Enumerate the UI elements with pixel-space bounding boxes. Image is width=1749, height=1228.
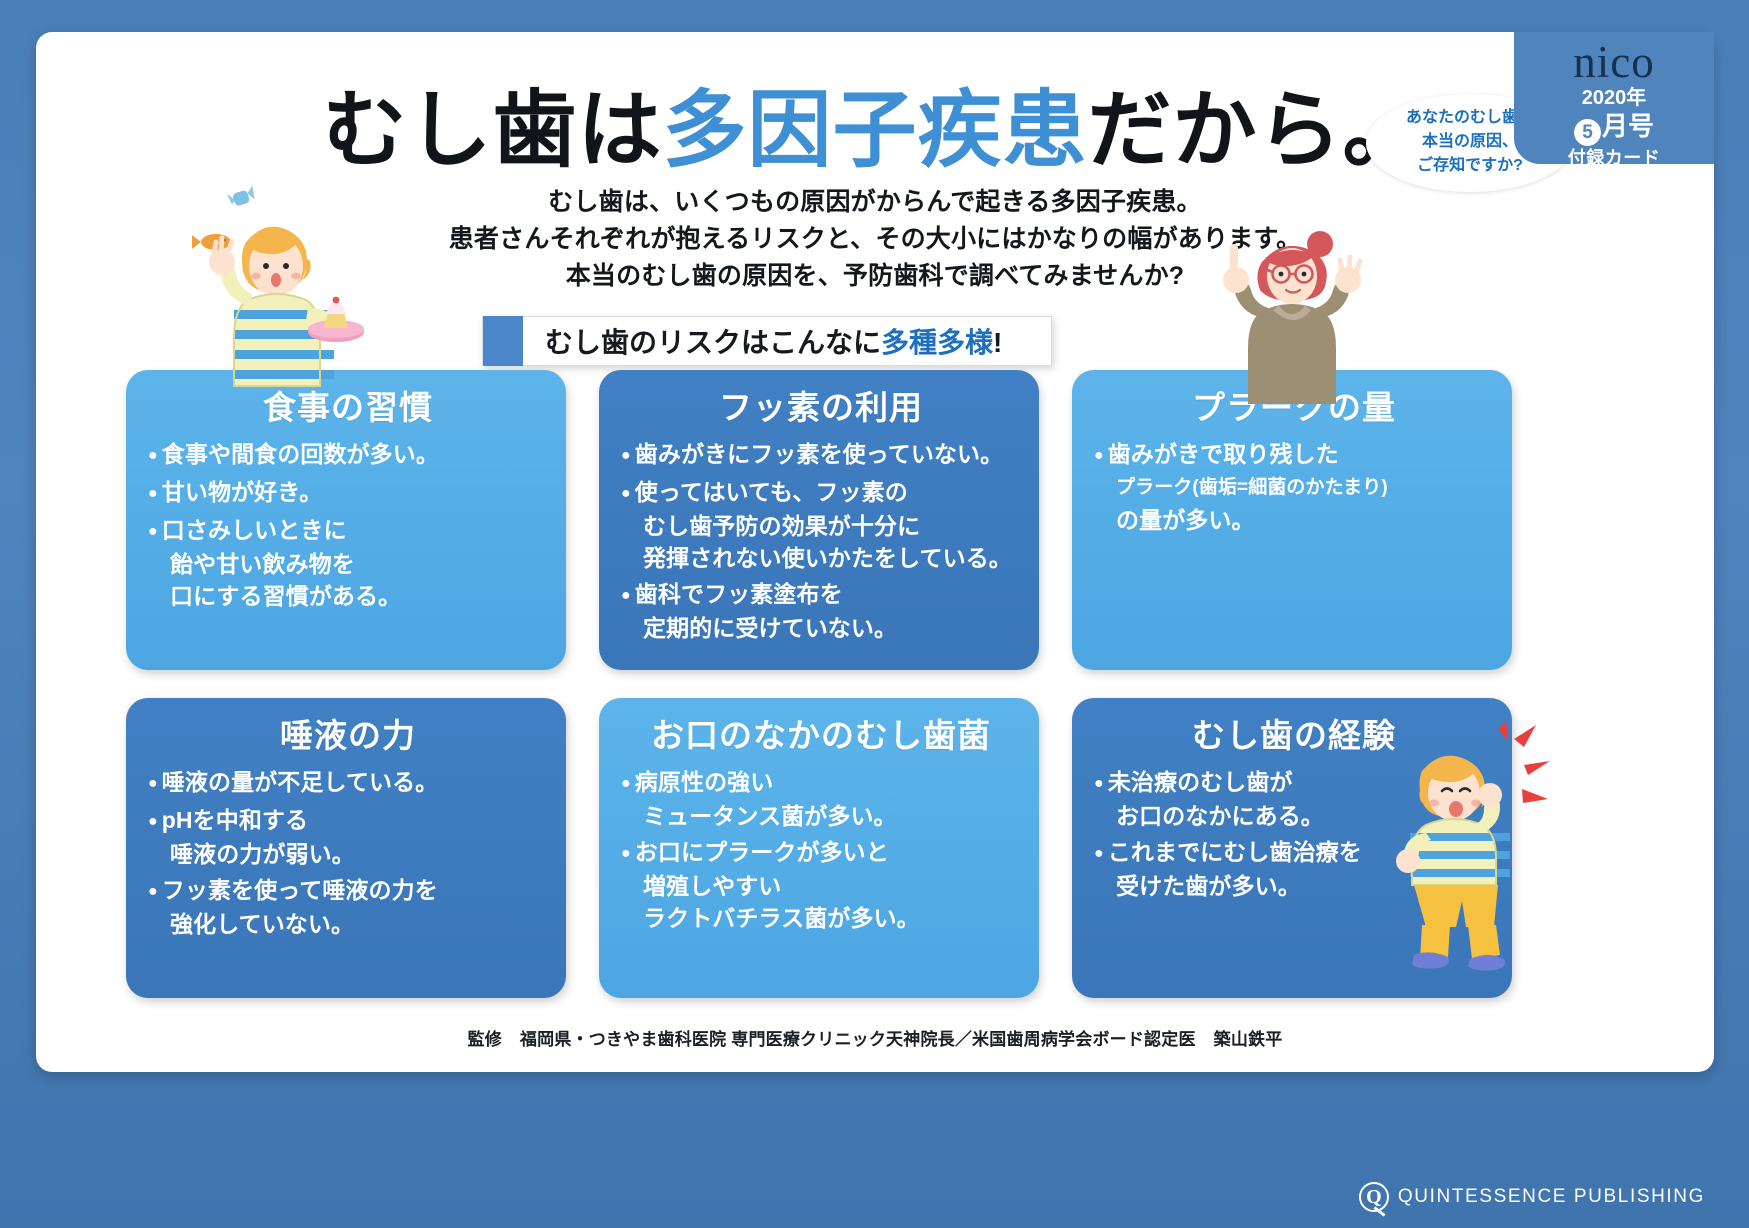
masthead-supplement: 付録カード	[1514, 146, 1714, 170]
poster-background: nico 2020年 5月号 付録カード むし歯は多因子疾患だから。 むし歯は、…	[0, 0, 1749, 1228]
publisher-logo: Q QUINTESSENCE PUBLISHING	[1359, 1182, 1705, 1212]
risk-card-bullet-list: 歯みがきにフッ素を使っていない。使ってはいても、フッ素のむし歯予防の効果が十分に…	[621, 438, 1021, 644]
magazine-brand: nico	[1514, 38, 1714, 86]
risk-bullet-line: 唾液の量が不足している。	[162, 769, 439, 795]
risk-banner: むし歯のリスクはこんなに多種多様!	[482, 316, 1052, 366]
risk-bullet-line: pHを中和する	[162, 807, 308, 833]
risk-bullet-line: 口さみしいときに	[162, 517, 347, 543]
masthead-month-number: 5	[1574, 119, 1601, 146]
risk-card-bullet-list: 病原性の強いミュータンス菌が多い。お口にプラークが多いと増殖しやすいラクトバチラ…	[621, 766, 1021, 934]
risk-bullet-item: 唾液の量が不足している。	[148, 766, 548, 800]
risk-card: 唾液の力唾液の量が不足している。pHを中和する唾液の力が弱い。フッ素を使って唾液…	[126, 698, 566, 998]
risk-bullet-line: ラクトバチラス菌が多い。	[642, 902, 1021, 934]
magazine-masthead: nico 2020年 5月号 付録カード	[1514, 32, 1714, 164]
supervisor-credit: 監修福岡県・つきやま歯科医院 専門医療クリニック天神院長／米国歯周病学会ボード認…	[36, 1025, 1714, 1050]
risk-bullet-line: 強化していない。	[169, 908, 548, 940]
risk-bullet-item: pHを中和する唾液の力が弱い。	[148, 804, 548, 870]
risk-card-title: お口のなかのむし歯菌	[621, 714, 1021, 758]
quintessence-q-icon: Q	[1359, 1182, 1389, 1212]
risk-bullet-line: 歯みがきで取り残した	[1108, 441, 1339, 467]
boy-with-toothache-illustration	[1364, 721, 1564, 976]
poster-sheet: nico 2020年 5月号 付録カード むし歯は多因子疾患だから。 むし歯は、…	[36, 32, 1714, 1072]
risk-bullet-line: 歯みがきにフッ素を使っていない。	[635, 441, 1003, 467]
masthead-month: 5月号	[1514, 110, 1714, 146]
risk-bullet-line: 使ってはいても、フッ素の	[635, 479, 908, 505]
credit-affiliation: 福岡県・つきやま歯科医院 専門医療クリニック天神院長／米国歯周病学会ボード認定医	[520, 1030, 1196, 1049]
speech-bubble-tail	[1531, 184, 1561, 215]
banner-text-emphasis: 多種多様	[881, 327, 993, 358]
headline-accent: 多因子疾患	[662, 83, 1087, 177]
risk-bullet-line: 発揮されない使いかたをしている。	[642, 542, 1021, 574]
credit-name: 築山鉄平	[1214, 1030, 1283, 1049]
banner-text-tail: !	[993, 327, 1002, 358]
risk-bullet-line: 増殖しやすい	[642, 870, 1021, 902]
risk-bullet-line: プラーク(歯垢=細菌のかたまり)	[1115, 472, 1494, 504]
risk-bullet-line: ミュータンス菌が多い。	[642, 800, 1021, 832]
risk-bullet-item: 歯科でフッ素塗布を定期的に受けていない。	[621, 578, 1021, 644]
risk-bullet-line: フッ素を使って唾液の力を	[162, 877, 438, 903]
risk-bullet-line: お口にプラークが多いと	[635, 839, 889, 865]
risk-bullet-line: むし歯予防の効果が十分に	[642, 510, 1021, 542]
risk-bullet-line: 病原性の強い	[635, 769, 774, 795]
risk-bullet-line: 口にする習慣がある。	[169, 580, 548, 612]
masthead-month-suffix: 月号	[1602, 111, 1654, 141]
credit-label: 監修	[468, 1030, 502, 1049]
risk-card: 食事の習慣食事や間食の回数が多い。甘い物が好き。口さみしいときに飴や甘い飲み物を…	[126, 370, 566, 670]
risk-bullet-line: 飴や甘い飲み物を	[169, 548, 548, 580]
risk-card-title: フッ素の利用	[621, 386, 1021, 430]
risk-bullet-line: の量が多い。	[1115, 504, 1494, 536]
risk-bullet-line: 唾液の力が弱い。	[169, 838, 548, 870]
risk-card-bullet-list: 食事や間食の回数が多い。甘い物が好き。口さみしいときに飴や甘い飲み物を口にする習…	[148, 438, 548, 612]
risk-bullet-item: お口にプラークが多いと増殖しやすいラクトバチラス菌が多い。	[621, 836, 1021, 934]
masthead-year: 2020年	[1514, 86, 1714, 110]
risk-card: フッ素の利用歯みがきにフッ素を使っていない。使ってはいても、フッ素のむし歯予防の…	[599, 370, 1039, 670]
risk-card: お口のなかのむし歯菌病原性の強いミュータンス菌が多い。お口にプラークが多いと増殖…	[599, 698, 1039, 998]
risk-card-title: 唾液の力	[148, 714, 548, 758]
risk-bullet-line: 甘い物が好き。	[162, 479, 323, 505]
risk-bullet-line: 歯科でフッ素塗布を	[635, 581, 843, 607]
risk-bullet-line: 定期的に受けていない。	[642, 612, 1021, 644]
risk-bullet-line: 食事や間食の回数が多い。	[162, 441, 439, 467]
risk-bullet-item: フッ素を使って唾液の力を強化していない。	[148, 874, 548, 940]
banner-square-marker	[483, 316, 523, 366]
dentist-illustration	[1184, 214, 1399, 429]
risk-bullet-item: 食事や間食の回数が多い。	[148, 438, 548, 472]
risk-bullet-item: 甘い物が好き。	[148, 476, 548, 510]
risk-card-bullet-list: 唾液の量が不足している。pHを中和する唾液の力が弱い。フッ素を使って唾液の力を強…	[148, 766, 548, 940]
risk-bullet-item: 口さみしいときに飴や甘い飲み物を口にする習慣がある。	[148, 514, 548, 612]
risk-bullet-item: 歯みがきで取り残したプラーク(歯垢=細菌のかたまり)の量が多い。	[1094, 438, 1494, 536]
headline-part-1: むし歯は	[322, 83, 662, 177]
banner-text-plain: むし歯のリスクはこんなに	[545, 327, 881, 358]
risk-bullet-item: 歯みがきにフッ素を使っていない。	[621, 438, 1021, 472]
banner-text: むし歯のリスクはこんなに多種多様!	[545, 321, 1002, 361]
risk-bullet-item: 使ってはいても、フッ素のむし歯予防の効果が十分に発揮されない使いかたをしている。	[621, 476, 1021, 574]
girl-with-sweets-illustration	[184, 184, 414, 414]
risk-bullet-item: 病原性の強いミュータンス菌が多い。	[621, 766, 1021, 832]
publisher-name: QUINTESSENCE PUBLISHING	[1398, 1186, 1705, 1208]
risk-card-bullet-list: 歯みがきで取り残したプラーク(歯垢=細菌のかたまり)の量が多い。	[1094, 438, 1494, 536]
risk-bullet-line: これまでにむし歯治療を	[1108, 839, 1362, 865]
risk-bullet-line: 未治療のむし歯が	[1108, 769, 1293, 795]
